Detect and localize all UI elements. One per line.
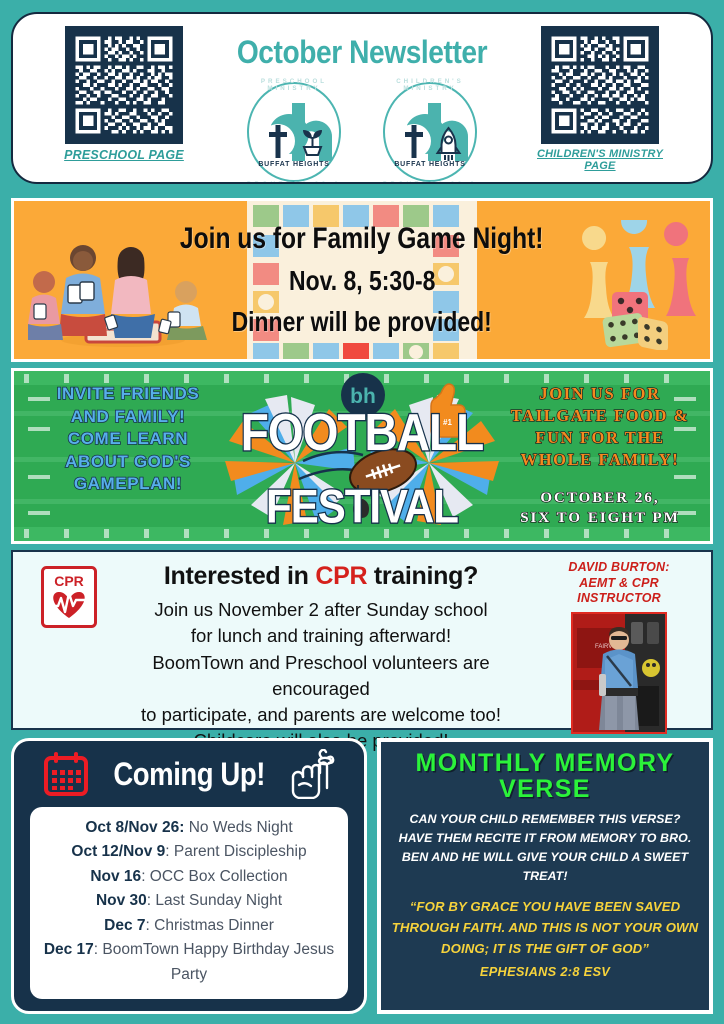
coming-up-header: Coming Up! [14, 741, 364, 807]
event-desc: : BoomTown Happy Birthday Jesus Party [94, 941, 334, 982]
coming-up-panel: Coming Up! Oct 8/Nov 26: No Weds Night O… [11, 738, 367, 1014]
event-desc: : Christmas Dinner [146, 917, 274, 934]
event-date: Oct 8/Nov 26: [85, 819, 184, 836]
memory-verse-intro: CAN YOUR CHILD REMEMBER THIS VERSE? HAVE… [391, 810, 699, 885]
football-title-line2: FESTIVAL [217, 480, 507, 534]
instructor-photo: FAIRVIEW [571, 612, 667, 734]
football-right-line: FUN FOR THE [500, 427, 700, 449]
svg-text:CPR: CPR [54, 573, 84, 589]
coming-up-title: Coming Up! [113, 756, 265, 793]
logo-arc-top: PRESCHOOL MINISTRY [235, 78, 353, 92]
coming-up-event-list: Oct 8/Nov 26: No Weds Night Oct 12/Nov 9… [30, 807, 348, 999]
preschool-ministry-logo: PRESCHOOL MINISTRY PROVERBS 22:6 BUFFAT … [235, 76, 353, 184]
cpr-detail-line: BoomTown and Preschool volunteers are en… [109, 650, 533, 703]
header-panel: October Newsletter [11, 12, 713, 184]
football-right-line: TAILGATE FOOD & [500, 405, 700, 427]
football-title-line1: FOOTBALL [217, 402, 507, 462]
instructor-photo: FAIRVIEW [573, 614, 665, 732]
football-festival-emblem: bh #1 [217, 371, 507, 544]
logo-wordmark: BUFFAT HEIGHTS [235, 161, 353, 168]
football-time-line: SIX TO EIGHT PM [500, 509, 700, 529]
football-date-line: OCTOBER 26, [500, 489, 700, 509]
cpr-heading: Interested in CPR training? [109, 562, 533, 591]
event-desc: No Weds Night [184, 819, 292, 836]
event-desc: : OCC Box Collection [141, 868, 287, 885]
bh-monogram-icon [388, 99, 472, 165]
list-item: Nov 16: OCC Box Collection [36, 865, 342, 889]
logo-arc-top: CHILDREN'S MINISTRY [371, 78, 489, 92]
logo-arc-bottom: PROVERBS 22:6 [235, 181, 353, 184]
cpr-heart-icon: CPR [41, 566, 97, 628]
football-right-text: JOIN US FOR TAILGATE FOOD & FUN FOR THE … [500, 383, 700, 529]
game-night-dinner-note: Dinner will be provided! [232, 306, 492, 338]
logo-wordmark: BUFFAT HEIGHTS [371, 161, 489, 168]
logo-group: PRESCHOOL MINISTRY PROVERBS 22:6 BUFFAT … [13, 76, 711, 184]
football-left-line: INVITE FRIENDS [28, 383, 228, 406]
football-left-text: INVITE FRIENDS AND FAMILY! COME LEARN AB… [28, 383, 228, 496]
cpr-training-panel: CPR Interested in CPR training? Join us … [11, 550, 713, 730]
football-festival-panel: INVITE FRIENDS AND FAMILY! COME LEARN AB… [11, 368, 713, 544]
cpr-heading-pre: Interested in [164, 562, 315, 590]
event-date: Dec 17 [44, 941, 94, 958]
family-game-night-panel: Join us for Family Game Night! Nov. 8, 5… [11, 198, 713, 362]
calendar-icon [43, 751, 89, 797]
memory-verse-title-line2: VERSE [391, 776, 699, 802]
instructor-block: DAVID BURTON: AEMT & CPR INSTRUCTOR FAIR… [537, 560, 701, 734]
list-item: Dec 17: BoomTown Happy Birthday Jesus Pa… [36, 938, 342, 987]
list-item: Nov 30: Last Sunday Night [36, 889, 342, 913]
memory-verse-quote: “FOR BY GRACE YOU HAVE BEEN SAVED THROUG… [391, 897, 699, 960]
football-left-line: ABOUT GOD'S [28, 451, 228, 474]
memory-verse-reference: EPHESIANS 2:8 ESV [391, 964, 699, 979]
event-date: Nov 16 [90, 868, 141, 885]
cpr-detail-line: for lunch and training afterward! [109, 623, 533, 649]
event-date: Nov 30 [96, 892, 147, 909]
bh-monogram-icon [252, 99, 336, 165]
list-item: Oct 12/Nov 9: Parent Discipleship [36, 840, 342, 864]
cpr-detail-line: to participate, and parents are welcome … [109, 702, 533, 728]
football-left-line: COME LEARN [28, 428, 228, 451]
logo-arc-bottom: PROVERBS 22:6 [371, 181, 489, 184]
football-right-line: WHOLE FAMILY! [500, 449, 700, 471]
string-on-finger-icon [289, 749, 335, 799]
event-desc: : Parent Discipleship [165, 843, 306, 860]
game-night-text: Join us for Family Game Night! Nov. 8, 5… [14, 201, 710, 359]
football-right-line: JOIN US FOR [500, 383, 700, 405]
childrens-ministry-logo: CHILDREN'S MINISTRY PROVERBS 22:6 BUFFAT… [371, 76, 489, 184]
football-left-line: AND FAMILY! [28, 406, 228, 429]
cpr-detail-line: Join us November 2 after Sunday school [109, 597, 533, 623]
game-night-datetime: Nov. 8, 5:30-8 [289, 265, 435, 297]
football-left-line: GAMEPLAN! [28, 473, 228, 496]
event-date: Oct 12/Nov 9 [71, 843, 165, 860]
list-item: Dec 7: Christmas Dinner [36, 914, 342, 938]
cpr-text-block: Interested in CPR training? Join us Nove… [109, 562, 533, 755]
list-item: Oct 8/Nov 26: No Weds Night [36, 816, 342, 840]
game-night-headline: Join us for Family Game Night! [180, 222, 544, 256]
cpr-heading-post: training? [367, 562, 478, 590]
cpr-heart-icon: CPR [41, 566, 97, 633]
memory-verse-panel: MONTHLY MEMORY VERSE CAN YOUR CHILD REME… [377, 738, 713, 1014]
instructor-role: AEMT & CPR INSTRUCTOR [537, 576, 701, 607]
cpr-heading-highlight: CPR [315, 562, 367, 590]
memory-verse-title-line1: MONTHLY MEMORY [391, 750, 699, 776]
event-desc: : Last Sunday Night [147, 892, 282, 909]
instructor-name: DAVID BURTON: [537, 560, 701, 576]
event-date: Dec 7 [104, 917, 145, 934]
